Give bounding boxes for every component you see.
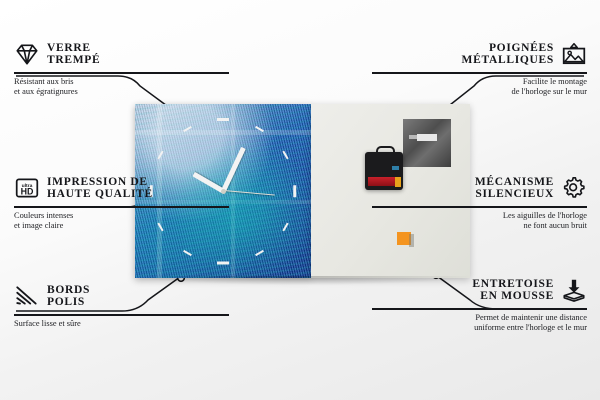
picture-frame-hook-icon [561,41,587,67]
feature-description: Couleurs intenses et image claire [14,211,229,232]
ultra-hd-icon: ultra HD [14,175,40,201]
feature-title: BORDS POLIS [47,284,90,309]
feature-title: POIGNÉES MÉTALLIQUES [462,42,554,67]
feature-description: Résistant aux bris et aux égratignures [14,77,229,98]
foam-spacer [397,232,411,245]
polished-edges-icon [14,283,40,309]
feature-mecanisme-silencieux: MÉCANISME SILENCIEUX Les aiguilles de l'… [372,170,587,231]
gear-icon [561,175,587,201]
feature-divider [372,72,587,74]
feature-title: ENTRETOISE EN MOUSSE [472,278,554,303]
feature-divider [372,308,587,310]
feature-verre-trempe: VERRE TREMPÉ Résistant aux bris et aux é… [14,36,229,97]
feature-description: Les aiguilles de l'horloge ne font aucun… [372,211,587,232]
svg-text:HD: HD [21,187,34,197]
feature-title: VERRE TREMPÉ [47,42,100,67]
clock-tick [294,185,297,197]
feature-divider [372,206,587,208]
feature-title: MÉCANISME SILENCIEUX [475,176,554,201]
infographic-canvas: VERRE TREMPÉ Résistant aux bris et aux é… [0,0,600,400]
feature-poignees-metalliques: POIGNÉES MÉTALLIQUES Facilite le montage… [372,36,587,97]
mechanism-hook [376,146,395,157]
feature-description: Facilite le montage de l'horloge sur le … [372,77,587,98]
feature-title: IMPRESSION DE HAUTE QUALITÉ [47,176,153,201]
feature-bords-polis: BORDS POLIS Surface lisse et sûre [14,278,229,329]
handle-slot [417,134,437,141]
diamond-icon [14,41,40,67]
clock-tick [217,262,229,265]
feature-impression-hd: ultra HD IMPRESSION DE HAUTE QUALITÉ Cou… [14,170,229,231]
clock-tick [217,118,229,121]
feature-entretoise-mousse: ENTRETOISE EN MOUSSE Permet de maintenir… [372,272,587,333]
metal-handle [403,119,451,167]
feature-divider [14,314,229,316]
feature-description: Permet de maintenir une distance uniform… [372,313,587,334]
feature-divider [14,206,229,208]
feature-divider [14,72,229,74]
foam-spacer-icon [561,277,587,303]
feature-description: Surface lisse et sûre [14,319,229,329]
foam-spacer-shadow [409,234,414,247]
